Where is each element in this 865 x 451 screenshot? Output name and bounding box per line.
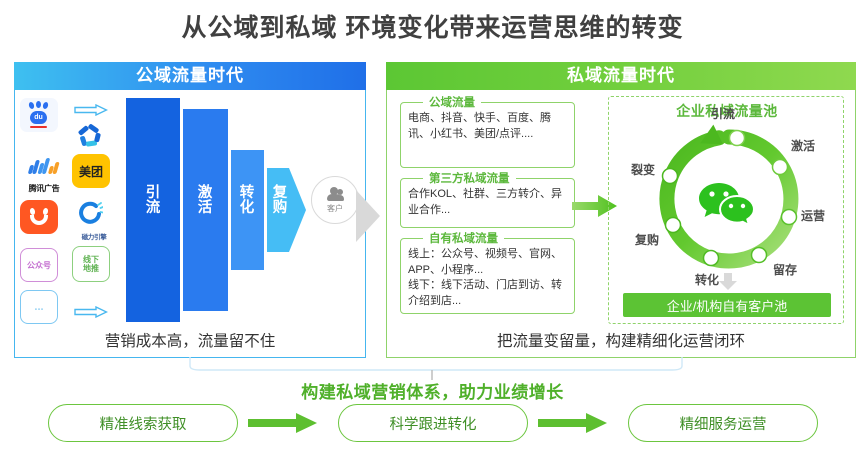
public-domain-caption: 营销成本高，流量留不住 <box>14 322 366 358</box>
logo-tencent-ads: 腾讯广告 <box>20 148 70 184</box>
hollow-arrow-icon-top <box>74 104 108 116</box>
logo-placeholder: ... <box>20 290 64 326</box>
juliang-caption: 磁力引擎 <box>72 231 116 241</box>
bottom-step-row: 精准线索获取 科学跟进转化 精细服务运营 <box>0 404 865 448</box>
customer-label: 客户 <box>327 203 343 214</box>
pool-down-arrow-icon <box>719 273 737 291</box>
customer-icon <box>326 187 344 202</box>
meituan-icon: 美团 <box>72 154 110 188</box>
lifecycle-label-3: 运营 <box>801 207 825 224</box>
logo-kuaishou <box>20 200 64 236</box>
lifecycle-label-1: 引流 <box>711 105 735 122</box>
bottom-step-arrow-2-icon <box>538 413 608 433</box>
private-domain-caption: 把流量变留量，构建精细化运营闭环 <box>386 322 856 358</box>
logo-offline-promo: 线下地推 <box>72 246 116 282</box>
baidu-icon: du <box>20 98 58 132</box>
lifecycle-label-7: 裂变 <box>631 161 655 178</box>
funnel-stage-3: 转化 <box>236 186 258 216</box>
private-traffic-pool: 企业私域流量池 <box>608 96 844 324</box>
offline-promo-label: 线下地推 <box>80 255 102 273</box>
lifecycle-label-4: 留存 <box>773 261 797 278</box>
lifecycle-label-2: 激活 <box>791 137 815 154</box>
public-domain-panel-header: 公域流量时代 <box>14 62 366 90</box>
bottom-title: 构建私域营销体系，助力业绩增长 <box>0 378 865 403</box>
hollow-arrow-icon-bottom <box>74 306 108 318</box>
traffic-box-owned: 自有私域流量 线上：公众号、视频号、官网、APP、小程序... 线下：线下活动、… <box>400 238 575 314</box>
traffic-box-thirdparty-title: 第三方私域流量 <box>423 170 516 186</box>
private-domain-panel-body: 公域流量 电商、抖音、快手、百度、腾讯、小红书、美团/点评.... 第三方私域流… <box>386 90 856 358</box>
official-account-icon: 公众号 <box>20 248 58 282</box>
bottom-step-2[interactable]: 科学跟进转化 <box>338 404 528 442</box>
platform-logo-grid: du <box>18 96 124 324</box>
conversion-funnel: 引流 激活 转化 复购 <box>124 94 309 326</box>
customer-badge: 客户 <box>311 176 359 224</box>
private-domain-panel-header: 私域流量时代 <box>386 62 856 90</box>
offline-promo-icon: 线下地推 <box>72 246 110 282</box>
wechat-icon <box>697 179 757 227</box>
pool-owned-customer-bar: 企业/机构自有客户池 <box>623 293 831 317</box>
funnel-stage-1: 引流 <box>142 186 164 216</box>
traffic-box-owned-title: 自有私域流量 <box>423 230 504 246</box>
logo-official-account: 公众号 <box>20 248 64 284</box>
page-title: 从公域到私域 环境变化带来运营思维的转变 <box>0 8 865 44</box>
bottom-step-1[interactable]: 精准线索获取 <box>48 404 238 442</box>
slide-root: 从公域到私域 环境变化带来运营思维的转变 公域流量时代 du <box>0 0 865 451</box>
lifecycle-label-5: 转化 <box>695 271 719 288</box>
logo-juliang-qingche: 磁力引擎 <box>72 196 116 232</box>
tencent-ads-icon <box>20 148 68 182</box>
placeholder-icon: ... <box>20 290 58 324</box>
traffic-box-public-title: 公域流量 <box>423 94 481 110</box>
public-domain-panel-body: du <box>14 90 366 358</box>
logo-meituan: 美团 <box>72 154 116 190</box>
lifecycle-label-6: 复购 <box>635 231 659 248</box>
tencent-ads-caption: 腾讯广告 <box>20 183 68 194</box>
juliang-qingche-icon <box>72 196 110 230</box>
bottom-step-arrow-1-icon <box>248 413 318 433</box>
funnel-stage-4: 复购 <box>269 186 291 216</box>
traffic-box-thirdparty: 第三方私域流量 合作KOL、社群、三方转介、异业合作... <box>400 178 575 228</box>
logo-baidu: du <box>20 98 64 134</box>
bottom-step-3[interactable]: 精细服务运营 <box>628 404 818 442</box>
transition-arrow-icon <box>356 190 382 242</box>
logo-oceanengine: 巨量引擎 <box>72 120 116 156</box>
kuaishou-icon <box>20 200 58 234</box>
oceanengine-icon <box>72 120 110 154</box>
funnel-stage-2: 激活 <box>194 186 216 216</box>
traffic-box-owned-body: 线上：公众号、视频号、官网、APP、小程序... 线下：线下活动、门店到访、转介… <box>401 239 574 315</box>
traffic-box-public: 公域流量 电商、抖音、快手、百度、腾讯、小红书、美团/点评.... <box>400 102 575 168</box>
